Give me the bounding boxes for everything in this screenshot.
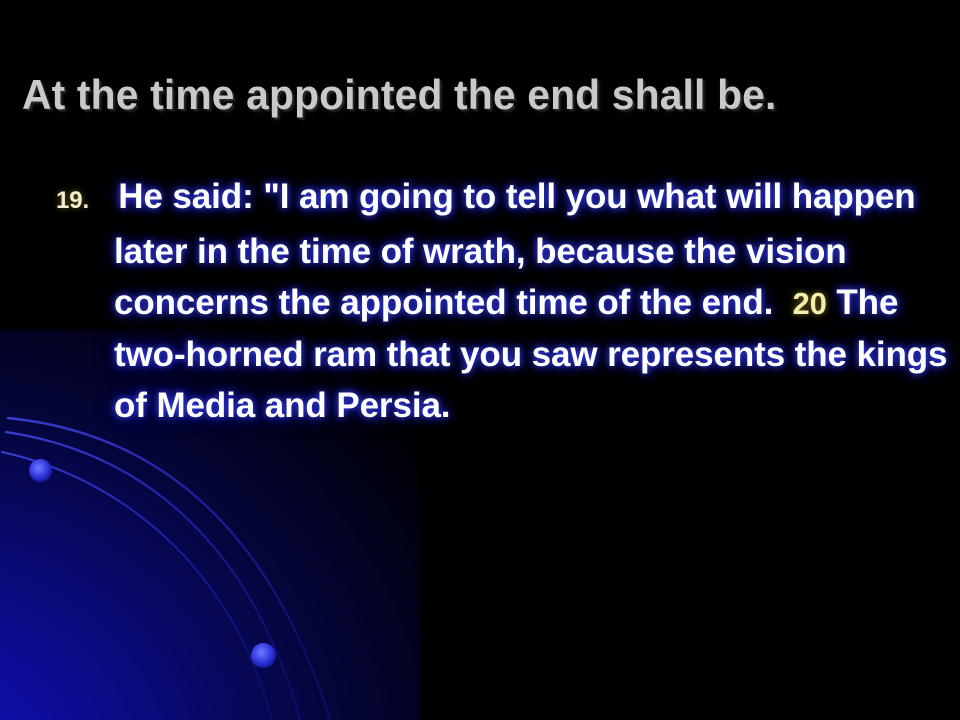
slide-title: At the time appointed the end shall be.	[22, 62, 914, 128]
verse-number-20: 20	[792, 286, 826, 321]
decorative-arc-middle	[6, 432, 300, 720]
verse-lead-spacer	[89, 177, 118, 216]
verse-inline-spacer-2	[827, 283, 837, 322]
verse-number-19: 19.	[56, 187, 89, 214]
verse-inline-spacer	[773, 283, 792, 322]
presentation-slide: At the time appointed the end shall be. …	[0, 0, 960, 720]
arc-node-upper-dot	[29, 459, 52, 482]
arc-node-lower-dot	[251, 643, 276, 668]
decorative-arc-inner	[2, 452, 272, 720]
decorative-arc-outer	[8, 418, 330, 720]
slide-body-text: 19. He said: "I am going to tell you wha…	[56, 171, 954, 431]
